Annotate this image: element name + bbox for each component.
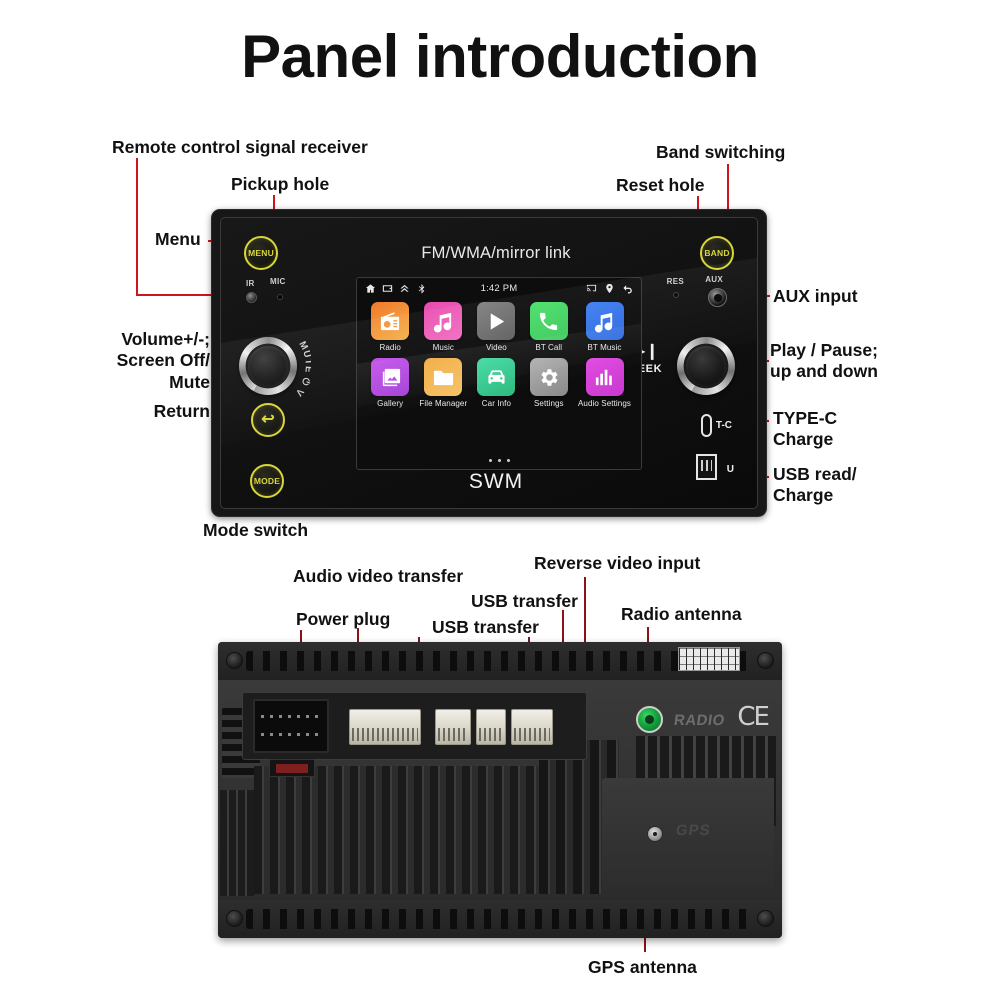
leader-remote-receiver-v (136, 158, 138, 294)
app-tile[interactable] (371, 358, 409, 396)
callout-aux-input: AUX input (773, 286, 858, 307)
radio-icon (379, 310, 402, 333)
usb-tag: U (727, 464, 734, 475)
ir-label: IR (246, 279, 255, 288)
recents-icon[interactable] (382, 283, 393, 294)
touchscreen-display[interactable]: 1:42 PM (356, 277, 642, 470)
app-tile[interactable] (477, 302, 515, 340)
return-arrow-icon: ↩ (261, 412, 275, 428)
ce-mark: CE (737, 702, 768, 732)
app-label: Video (486, 343, 507, 352)
app-tile[interactable] (586, 302, 624, 340)
gps-antenna-jack[interactable] (647, 826, 663, 842)
menu-button[interactable]: MENU (244, 236, 278, 270)
page-indicator-dots[interactable] (357, 459, 641, 462)
type-c-port[interactable] (701, 414, 712, 437)
bluetooth-icon[interactable] (416, 283, 427, 294)
car-stereo-rear-chassis: GPS RADIO CE (218, 642, 782, 938)
app-video[interactable]: Video (473, 302, 519, 352)
gear-icon (537, 366, 560, 389)
app-grid: Radio Music Video (367, 302, 631, 408)
folder-icon (432, 366, 455, 389)
callout-reverse-video-input: Reverse video input (534, 553, 700, 574)
reverse-video-input-connector[interactable] (511, 709, 553, 745)
left-lower-fins (220, 790, 254, 896)
volume-knob[interactable] (239, 337, 297, 395)
rear-chassis-body: GPS RADIO CE (218, 680, 782, 900)
app-tile[interactable] (530, 358, 568, 396)
app-file-manager[interactable]: File Manager (419, 358, 467, 408)
app-tile[interactable] (530, 302, 568, 340)
callout-volume: Volume+/-; Screen Off/ Mute (20, 329, 210, 393)
play-triangle-icon (485, 310, 508, 333)
callout-usb-read-charge: USB read/ Charge (773, 464, 857, 507)
connector-well (242, 692, 587, 760)
app-label: Car Info (482, 399, 511, 408)
app-car-info[interactable]: Car Info (473, 358, 519, 408)
phone-icon (537, 310, 560, 333)
mode-button[interactable]: MODE (250, 464, 284, 498)
app-tile[interactable] (424, 358, 462, 396)
status-bar-right-icons (586, 283, 633, 294)
radio-text-label: RADIO (673, 712, 726, 729)
car-stereo-front-unit: FM/WMA/mirror link SWM MENU IR MIC MUTE … (211, 209, 767, 517)
music-note-icon (593, 310, 616, 333)
fm-mode-label: FM/WMA/mirror link (341, 244, 651, 263)
mic-pickup-hole-icon (277, 294, 283, 300)
app-label: Music (433, 343, 454, 352)
screw-icon (226, 910, 243, 927)
usb-transfer-connector-1[interactable] (435, 709, 471, 745)
res-label: RES (667, 277, 684, 286)
play-pause-knob[interactable] (677, 337, 735, 395)
aux-input-jack[interactable] (708, 288, 727, 307)
radio-antenna-jack[interactable] (636, 706, 663, 733)
barcode-label (678, 647, 740, 671)
status-bar: 1:42 PM (357, 278, 641, 298)
app-label: BT Music (588, 343, 622, 352)
music-note-icon (432, 310, 455, 333)
app-tile[interactable] (477, 358, 515, 396)
app-label: BT Call (535, 343, 562, 352)
app-label: Settings (534, 399, 564, 408)
usb-transfer-connector-2[interactable] (476, 709, 506, 745)
callout-audio-video-transfer: Audio video transfer (293, 566, 463, 587)
callout-menu: Menu (155, 229, 201, 250)
usb-port[interactable] (696, 454, 717, 480)
callout-radio-antenna: Radio antenna (621, 604, 742, 625)
screw-icon (226, 652, 243, 669)
equalizer-icon (593, 366, 616, 389)
page-dot[interactable] (507, 459, 510, 462)
band-button[interactable]: BAND (700, 236, 734, 270)
page-title: Panel introduction (0, 22, 1000, 91)
callout-band-switching: Band switching (656, 142, 785, 163)
app-settings[interactable]: Settings (526, 358, 572, 408)
chevron-up-icon[interactable] (399, 283, 410, 294)
callout-type-c-charge: TYPE-C Charge (773, 408, 837, 451)
page-dot[interactable] (498, 459, 501, 462)
callout-pickup-hole: Pickup hole (231, 174, 329, 195)
callout-power-plug: Power plug (296, 609, 390, 630)
app-label: Radio (379, 343, 400, 352)
status-bar-left-icons (365, 283, 427, 294)
callout-usb-transfer-2: USB transfer (432, 617, 539, 638)
mic-label: MIC (270, 277, 286, 286)
app-label: File Manager (419, 399, 467, 408)
vent-slots (246, 909, 754, 929)
app-bt-music[interactable]: BT Music (578, 302, 631, 352)
cast-icon[interactable] (586, 283, 597, 294)
app-audio-settings[interactable]: Audio Settings (578, 358, 631, 408)
callout-mode-switch: Mode switch (203, 520, 308, 541)
location-icon[interactable] (604, 283, 615, 294)
app-gallery[interactable]: Gallery (367, 358, 413, 408)
car-icon (485, 366, 508, 389)
ir-receiver-icon (246, 292, 257, 303)
brand-label: SWM (341, 470, 651, 494)
callout-gps-antenna: GPS antenna (588, 957, 697, 978)
front-bezel: FM/WMA/mirror link SWM MENU IR MIC MUTE … (220, 217, 758, 509)
heatsink-fins-main (254, 766, 539, 894)
app-label: Gallery (377, 399, 403, 408)
gps-text-label: GPS (675, 822, 712, 839)
panel-introduction-diagram: Panel introduction Remote control signal… (0, 0, 1000, 1000)
app-tile[interactable] (586, 358, 624, 396)
screw-icon (757, 652, 774, 669)
aux-label: AUX (705, 275, 723, 284)
callout-remote-receiver: Remote control signal receiver (112, 137, 368, 158)
home-icon[interactable] (365, 283, 376, 294)
power-plug-connector[interactable] (253, 699, 329, 753)
fuse-holder[interactable] (269, 759, 315, 777)
app-tile[interactable] (371, 302, 409, 340)
photo-icon (379, 366, 402, 389)
screw-icon (757, 910, 774, 927)
back-icon[interactable] (622, 283, 633, 294)
type-c-tag: T-C (716, 420, 732, 431)
callout-play-pause: Play / Pause; up and down (770, 340, 878, 383)
rear-bottom-vent-strip (218, 900, 782, 938)
reset-hole-icon[interactable] (673, 292, 679, 298)
audio-video-transfer-connector[interactable] (349, 709, 421, 745)
app-music[interactable]: Music (419, 302, 467, 352)
rear-top-vent-strip (218, 642, 782, 680)
page-dot[interactable] (489, 459, 492, 462)
gps-plate: GPS (602, 778, 774, 896)
callout-return: Return (40, 401, 210, 422)
callout-reset-hole: Reset hole (616, 175, 705, 196)
app-radio[interactable]: Radio (367, 302, 413, 352)
app-bt-call[interactable]: BT Call (526, 302, 572, 352)
app-label: Audio Settings (578, 399, 631, 408)
return-button[interactable]: ↩ (251, 403, 285, 437)
app-tile[interactable] (424, 302, 462, 340)
